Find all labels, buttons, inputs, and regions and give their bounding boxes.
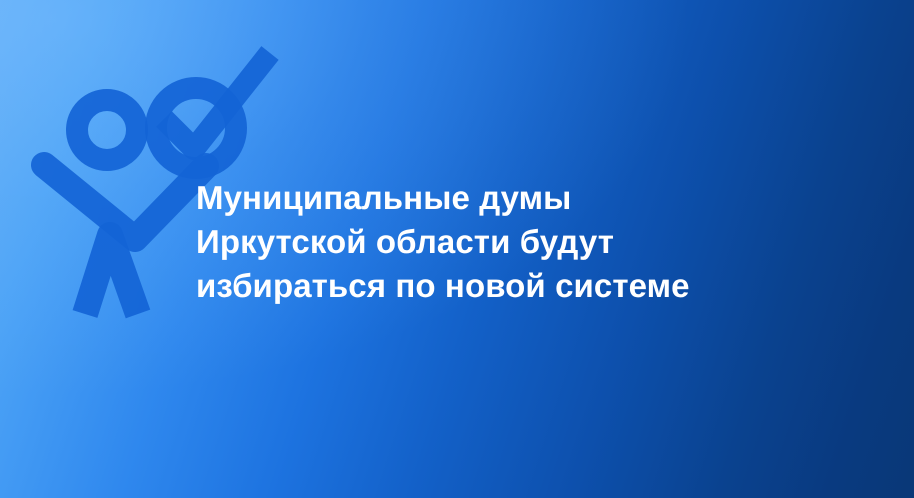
news-share-card: Муниципальные думы Иркутской области буд… <box>0 0 914 498</box>
arms-v-icon <box>44 165 206 239</box>
headline-text: Муниципальные думы Иркутской области буд… <box>196 176 756 308</box>
left-eye-ring-icon <box>77 100 137 160</box>
